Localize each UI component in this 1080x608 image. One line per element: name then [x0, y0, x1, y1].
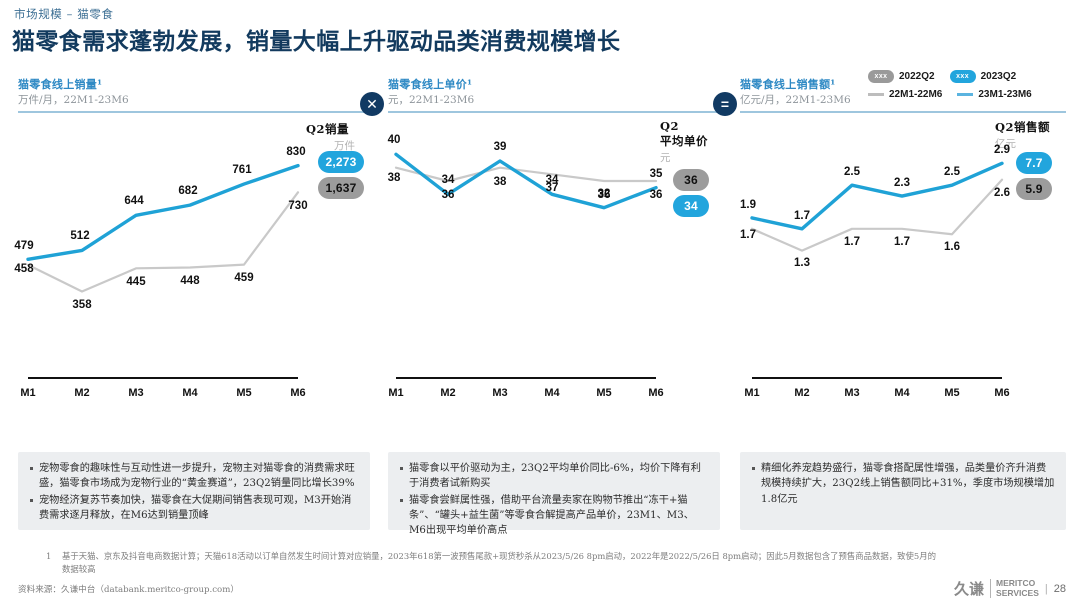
- x-axis-tick: M4: [894, 387, 909, 399]
- x-axis-tick: M5: [596, 387, 611, 399]
- x-axis-tick: M3: [492, 387, 507, 399]
- multiply-icon: ✕: [360, 92, 384, 116]
- insight-bullet: 猫零食以平价驱动为主，23Q2平均单价同比-6%，均价下降有利于消费者试新购买: [399, 461, 709, 492]
- data-point-label: 38: [494, 176, 507, 188]
- x-axis-line: [28, 377, 298, 379]
- panel-sales-value: 猫零食线上销售额¹ 亿元/月，22M1-23M6 Q2销售额 亿元 7.7 5.…: [740, 78, 1066, 419]
- brand-logo: 久谦 MERITCO SERVICES | 28: [954, 578, 1066, 599]
- x-axis-tick: M5: [236, 387, 251, 399]
- data-point-label: 35: [650, 168, 663, 180]
- panel-title: 猫零食线上销量¹: [18, 78, 370, 92]
- insight-box-price: 猫零食以平价驱动为主，23Q2平均单价同比-6%，均价下降有利于消费者试新购买猫…: [388, 452, 720, 530]
- x-axis-tick: M6: [994, 387, 1009, 399]
- chart-plot-area: [740, 119, 1042, 419]
- data-point-label: 2.6: [994, 187, 1010, 199]
- insight-bullet: 精细化养宠趋势盛行，猫零食搭配属性增强，品类量价齐升消费规模持续扩大，23Q2线…: [751, 461, 1055, 507]
- insight-bullet: 宠物零食的趣味性与互动性进一步提升，宠物主对猫零食的消费需求旺盛，猫零食市场成为…: [29, 461, 359, 492]
- footnote-text: 基于天猫、京东及抖音电商数据计算；天猫618活动以订单自然发生时间计算对应销量，…: [62, 551, 936, 574]
- insight-box-value: 精细化养宠趋势盛行，猫零食搭配属性增强，品类量价齐升消费规模持续扩大，23Q2线…: [740, 452, 1066, 530]
- data-point-label: 448: [180, 275, 199, 287]
- breadcrumb: 市场规模 – 猫零食: [14, 6, 114, 22]
- chart-plot-area: [388, 119, 696, 419]
- x-axis-tick: M4: [182, 387, 197, 399]
- panel-subtitle: 万件/月，22M1-23M6: [18, 94, 370, 107]
- data-point-label: 36: [650, 189, 663, 201]
- data-point-label: 479: [14, 240, 33, 252]
- series-line-2023: [752, 163, 1002, 228]
- line-chart-unit-price: Q2 平均单价 元 36 34 403439343235383638373636…: [388, 119, 720, 419]
- data-point-label: 761: [232, 164, 251, 176]
- data-point-label: 1.7: [794, 210, 810, 222]
- series-line-2022: [28, 192, 298, 291]
- brand-separator: |: [1045, 583, 1048, 595]
- data-point-label: 2.9: [994, 144, 1010, 156]
- data-point-label: 1.9: [740, 199, 756, 211]
- x-axis-tick: M5: [944, 387, 959, 399]
- chart-plot-area: [18, 119, 340, 419]
- x-axis-tick: M2: [440, 387, 455, 399]
- page-number: 28: [1054, 583, 1066, 595]
- data-point-label: 459: [234, 272, 253, 284]
- panel-title: 猫零食线上单价¹: [388, 78, 720, 92]
- data-point-label: 730: [288, 200, 307, 212]
- data-point-label: 2.5: [844, 166, 860, 178]
- data-point-label: 1.6: [944, 241, 960, 253]
- x-axis-tick: M1: [388, 387, 403, 399]
- panel-divider: [388, 111, 720, 113]
- line-chart-sales-volume: Q2销量 万件 2,273 1,637 47951264468276183045…: [18, 119, 370, 419]
- data-point-label: 34: [442, 174, 455, 186]
- panel-divider: [18, 111, 370, 113]
- brand-name-en: MERITCO SERVICES: [990, 579, 1039, 597]
- data-point-label: 458: [14, 263, 33, 275]
- data-point-label: 512: [70, 230, 89, 242]
- panel-subtitle: 元，22M1-23M6: [388, 94, 720, 107]
- equals-icon: =: [713, 92, 737, 116]
- brand-en-line2: SERVICES: [996, 589, 1039, 598]
- brand-name-cn: 久谦: [954, 578, 984, 599]
- x-axis-tick: M2: [794, 387, 809, 399]
- data-point-label: 1.7: [844, 236, 860, 248]
- data-point-label: 1.3: [794, 257, 810, 269]
- data-point-label: 40: [388, 134, 401, 146]
- data-point-label: 682: [178, 185, 197, 197]
- source-line: 资料来源：久谦中台（databank.meritco-group.com）: [18, 583, 239, 595]
- x-axis-tick: M3: [844, 387, 859, 399]
- panel-subtitle: 亿元/月，22M1-23M6: [740, 94, 1066, 107]
- panel-title: 猫零食线上销售额¹: [740, 78, 1066, 92]
- data-point-label: 1.7: [894, 236, 910, 248]
- panel-sales-volume: 猫零食线上销量¹ 万件/月，22M1-23M6 Q2销量 万件 2,273 1,…: [18, 78, 370, 419]
- footnote: 1 基于天猫、京东及抖音电商数据计算；天猫618活动以订单自然发生时间计算对应销…: [62, 550, 942, 576]
- x-axis-tick: M1: [744, 387, 759, 399]
- data-point-label: 1.7: [740, 229, 756, 241]
- footnote-number: 1: [46, 550, 51, 563]
- data-point-label: 644: [124, 195, 143, 207]
- data-point-label: 36: [442, 189, 455, 201]
- x-axis-line: [396, 377, 656, 379]
- x-axis-tick: M1: [20, 387, 35, 399]
- panel-divider: [740, 111, 1066, 113]
- data-point-label: 358: [72, 299, 91, 311]
- data-point-label: 2.5: [944, 166, 960, 178]
- data-point-label: 37: [546, 182, 559, 194]
- x-axis-tick: M4: [544, 387, 559, 399]
- data-point-label: 830: [286, 146, 305, 158]
- x-axis-line: [752, 377, 1002, 379]
- page-title: 猫零食需求蓬勃发展，销量大幅上升驱动品类消费规模增长: [12, 22, 620, 56]
- line-chart-sales-value: Q2销售额 亿元 7.7 5.9 1.91.72.52.32.52.91.71.…: [740, 119, 1066, 419]
- data-point-label: 38: [388, 172, 401, 184]
- data-point-label: 445: [126, 276, 145, 288]
- insight-box-volume: 宠物零食的趣味性与互动性进一步提升，宠物主对猫零食的消费需求旺盛，猫零食市场成为…: [18, 452, 370, 530]
- data-point-label: 36: [598, 189, 611, 201]
- x-axis-tick: M2: [74, 387, 89, 399]
- x-axis-tick: M6: [648, 387, 663, 399]
- panel-unit-price: 猫零食线上单价¹ 元，22M1-23M6 Q2 平均单价 元 36 34 403…: [388, 78, 720, 419]
- x-axis-tick: M3: [128, 387, 143, 399]
- data-point-label: 2.3: [894, 177, 910, 189]
- x-axis-tick: M6: [290, 387, 305, 399]
- insight-bullet: 宠物经济复苏节奏加快，猫零食在大促期间销售表现可观，M3开始消费需求逐月释放，在…: [29, 493, 359, 524]
- data-point-label: 39: [494, 141, 507, 153]
- insight-bullet: 猫零食尝鲜属性强，借助平台流量卖家在购物节推出“冻干+猫条”、“罐头+益生菌”等…: [399, 493, 709, 539]
